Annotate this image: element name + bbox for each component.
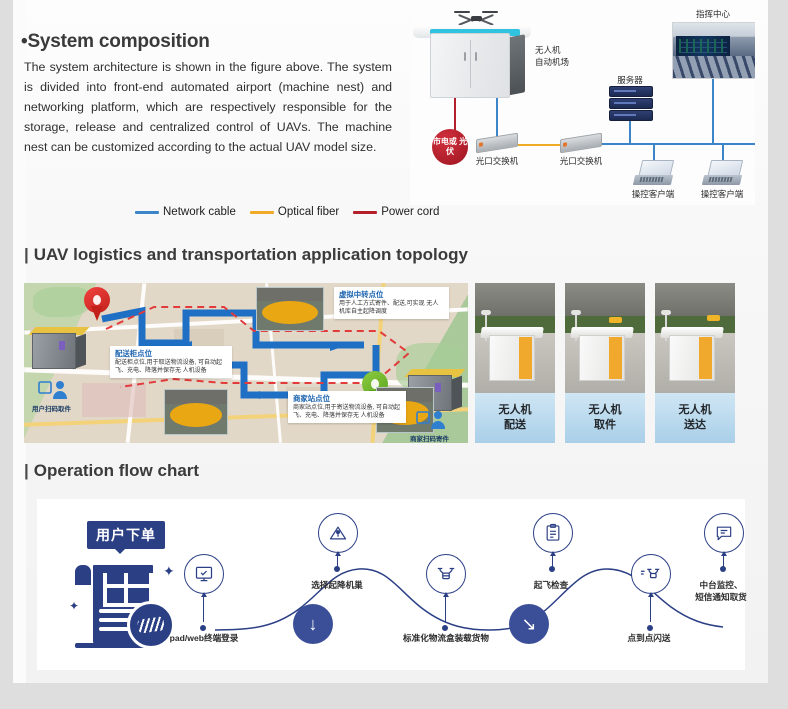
command-center-label: 指挥中心 [672,8,754,20]
photo-card-arrival[interactable]: 无人机 送达 [655,283,735,443]
flow-dot [200,625,206,631]
optical-switch-2 [560,133,602,154]
flow-dot [334,566,340,572]
operation-flow-chart: 用户下单 ✦ ✦ pad/web终端登录 [37,499,745,670]
nest-label: 无人机 自动机场 [535,44,597,68]
flow-stem [445,596,446,622]
legend-swatch-network-cable [135,211,159,214]
section-heading-topology: |UAV logistics and transportation applic… [24,245,468,265]
legend-label-power-cord: Power cord [381,206,439,218]
legend: Network cable Optical fiber Power cord [135,206,439,218]
card-caption: 无人机 送达 [655,393,735,443]
slide-page: •System composition The system architect… [13,0,755,683]
card-caption: 无人机 配送 [475,393,555,443]
flow-dot [549,566,555,572]
legend-swatch-power-cord [353,211,377,214]
flow-marker-down-1: ↓ [293,604,333,644]
nest-body [430,33,510,98]
legend-swatch-optical-fiber [250,211,274,214]
landing-pad-photo [256,287,324,331]
merchant-scan-icon [416,409,450,431]
flow-step-label-3: 标准化物流盒装载货物 [383,632,509,644]
delivery-cabinet-left [32,327,86,367]
flow-dot [720,566,726,572]
flow-dot [442,625,448,631]
drone-box-icon[interactable] [426,554,466,594]
nest-to-switch-wire [496,96,498,140]
flow-stem [203,596,204,622]
control-client-1-icon [634,160,672,186]
map-icon-label-merchant: 商家扫码寄件 [410,433,449,443]
map-icon-label-user: 用户扫码取件 [32,403,71,413]
monitor-check-icon[interactable] [184,554,224,594]
section-heading-flow: |Operation flow chart [24,461,199,481]
user-scan-icon [38,379,72,401]
logistics-map[interactable]: 配送柜点位 配送柜点位,用于取送物流设备, 可自动起飞、充电、降落并保存无 人机… [24,283,468,443]
control-client-1-label: 操控客户端 [623,188,683,200]
flow-step-label-2: 选择起降机巢 [289,579,385,591]
system-topology-diagram: 无人机 自动机场 市电或 光伏 光口交换机 光口交换机 服务器 指挥中心 操控客… [410,0,755,205]
page-title: •System composition [21,31,210,53]
flow-step-label-4: 起飞检查 [515,579,587,591]
server-drop-wire [629,120,631,144]
heading-bar: | [24,461,29,481]
command-center-photo [672,22,755,79]
card-photo [655,283,735,393]
card-caption: 无人机 取件 [565,393,645,443]
power-source-badge: 市电或 光伏 [432,129,468,165]
map-callout-virtual-transfer: 虚拟中转点位 用于人工方式寄件、配送,可实现 无人机库自主起降调度 [334,287,449,319]
map-callout-title: 配送柜点位 [115,349,227,359]
optical-switch-1 [476,133,518,154]
section-heading-topology-text: UAV logistics and transportation applica… [34,245,468,264]
map-callout-title: 虚拟中转点位 [339,290,444,300]
map-pin-icon[interactable] [318,513,358,553]
system-composition-body: The system architecture is shown in the … [24,57,392,157]
legend-label-optical-fiber: Optical fiber [278,206,339,218]
map-callout-title: 商家站点位 [293,394,401,404]
flow-dot [647,625,653,631]
flow-marker-down-2: ↘ [509,604,549,644]
flow-step-label-6: 中台监控、 短信通知取货 [665,579,777,603]
heading-bar: | [24,245,29,265]
legend-item-power-cord: Power cord [353,206,439,218]
map-callout-merchant-station: 商家站点位 商家站点位,用于寄送物流设备, 可自动起飞、充电、降落并保存无 人机… [288,391,406,423]
message-icon[interactable] [704,513,744,553]
optical-switch-1-label: 光口交换机 [468,155,526,167]
flow-step-label-1: pad/web终端登录 [155,632,253,644]
landing-pad-photo [164,389,228,435]
map-callout-text: 商家站点位,用于寄送物流设备, 可自动起飞、充电、降落并保存无 人机设备 [293,404,401,420]
legend-item-network-cable: Network cable [135,206,236,218]
server-label: 服务器 [606,74,654,86]
flow-step-label-5: 点到点闪送 [611,632,687,644]
card-photo [565,283,645,393]
section-heading-flow-text: Operation flow chart [34,461,199,480]
flow-stem [650,596,651,622]
topology-map-section: 配送柜点位 配送柜点位,用于取送物流设备, 可自动起飞、充电、降落并保存无 人机… [24,283,744,443]
legend-label-network-cable: Network cable [163,206,236,218]
clipboard-check-icon[interactable] [533,513,573,553]
control-client-2-icon [703,160,741,186]
map-callout-delivery-cabinet: 配送柜点位 配送柜点位,用于取送物流设备, 可自动起飞、充电、降落并保存无 人机… [110,346,232,378]
switch-to-bus-wire [598,143,755,145]
server-icon [609,86,651,120]
map-callout-text: 配送柜点位,用于取送物流设备, 可自动起飞、充电、降落并保存无 人机设备 [115,359,227,375]
photo-card-pickup[interactable]: 无人机 取件 [565,283,645,443]
card-photo [475,283,555,393]
optical-switch-2-label: 光口交换机 [552,155,610,167]
system-composition-section: •System composition The system architect… [13,0,755,232]
map-pin-red[interactable] [84,287,110,321]
map-callout-text: 用于人工方式寄件、配送,可实现 无人机库自主起降调度 [339,300,444,316]
control-client-2-label: 操控客户端 [692,188,752,200]
command-center-drop-wire [712,77,714,144]
photo-card-delivery[interactable]: 无人机 配送 [475,283,555,443]
legend-item-optical-fiber: Optical fiber [250,206,339,218]
